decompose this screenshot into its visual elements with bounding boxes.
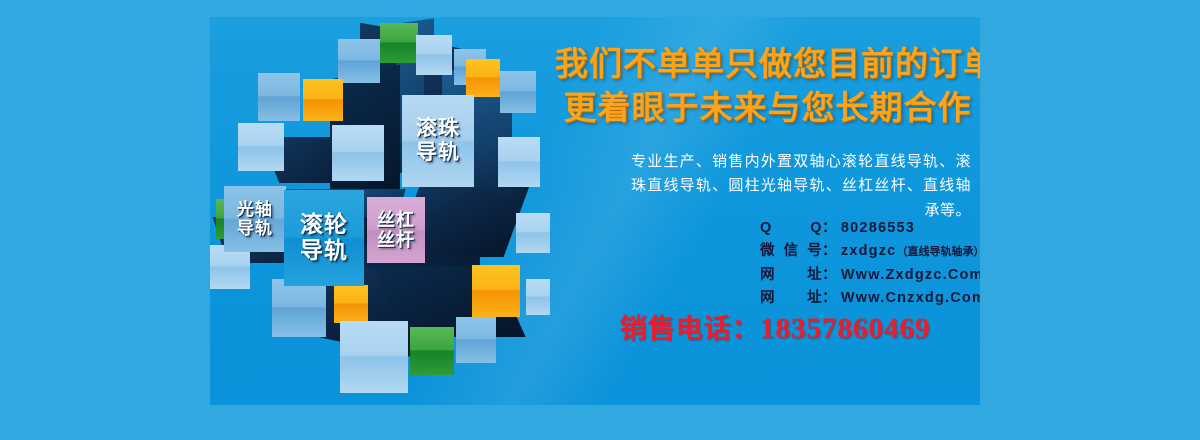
headline: 我们不单单只做您目前的订单 更着眼于未来与您长期合作 xyxy=(555,42,980,130)
cube-blue xyxy=(526,279,550,315)
contact-row-website-1: 网 址 ： Www.Zxdgzc.Com xyxy=(760,264,980,287)
cube-orange xyxy=(472,265,520,317)
contact-colon: ： xyxy=(822,217,837,240)
cube-face xyxy=(516,213,550,253)
cube-face xyxy=(416,35,452,75)
cube-face xyxy=(466,59,500,97)
contact-label: 微信号 xyxy=(760,240,822,263)
product-label-line1: 滚珠 xyxy=(416,117,460,141)
cube-face xyxy=(332,125,384,181)
cube-blue xyxy=(500,71,536,113)
cube-face xyxy=(338,39,380,83)
cube-blue xyxy=(416,35,452,75)
headline-line-2: 更着眼于未来与您长期合作 xyxy=(555,86,980,130)
product-label-line1: 光轴 xyxy=(237,200,273,219)
cube-face xyxy=(340,321,408,393)
cube-blue xyxy=(340,321,408,393)
cube-blue xyxy=(272,279,326,337)
product-label-gunlun-daogui: 滚轮 导轨 xyxy=(284,190,364,286)
contact-note-wechat: （直线导轨轴承） xyxy=(896,244,980,262)
contact-label: 网 址 xyxy=(760,264,822,287)
cube-face xyxy=(472,265,520,317)
cube-green xyxy=(380,23,418,63)
cube-face xyxy=(238,123,284,171)
sales-phone-number[interactable]: 18357860469 xyxy=(760,312,931,345)
cube-orange xyxy=(466,59,500,97)
product-label-sigang-sigan: 丝杠 丝杆 xyxy=(367,197,425,263)
contact-value-website-1[interactable]: Www.Zxdgzc.Com xyxy=(841,264,980,287)
description-text: 专业生产、销售内外置双轴心滚轮直线导轨、滚珠直线导轨、圆柱光轴导轨、丝杠丝杆、直… xyxy=(631,150,971,223)
product-label-line2: 导轨 xyxy=(300,238,348,264)
headline-line-1: 我们不单单只做您目前的订单 xyxy=(555,42,980,86)
contact-colon: ： xyxy=(822,264,837,287)
contact-colon: ： xyxy=(822,240,837,263)
copy-column: 我们不单单只做您目前的订单 更着眼于未来与您长期合作 专业生产、销售内外置双轴心… xyxy=(555,17,980,405)
cube-face xyxy=(498,137,540,187)
sales-phone-label: 销售电话： xyxy=(620,314,760,344)
cube-face xyxy=(410,327,454,375)
contact-value-qq[interactable]: 80286553 xyxy=(841,217,915,240)
contact-value-wechat[interactable]: zxdgzc xyxy=(841,240,897,263)
cube-face xyxy=(258,73,300,121)
cube-blue xyxy=(456,317,496,363)
cube-blue xyxy=(258,73,300,121)
cube-face xyxy=(456,317,496,363)
contact-row-qq: Q Q ： 80286553 xyxy=(760,217,980,240)
cube-face xyxy=(526,279,550,315)
cube-blue xyxy=(338,39,380,83)
cube-blue xyxy=(498,137,540,187)
contact-list: Q Q ： 80286553 微信号 ： zxdgzc （直线导轨轴承） 网 址… xyxy=(760,217,980,311)
contact-row-wechat: 微信号 ： zxdgzc （直线导轨轴承） xyxy=(760,240,980,263)
cube-face xyxy=(500,71,536,113)
cube-face xyxy=(272,279,326,337)
cube-blue xyxy=(238,123,284,171)
product-label-line1: 丝杠 xyxy=(377,210,415,230)
promo-banner: 滚珠 导轨 光轴 导轨 滚轮 导轨 丝杠 丝杆 我们不单单只做您目前的订单 更着… xyxy=(0,0,1200,440)
product-label-line2: 导轨 xyxy=(416,141,460,165)
cube-face xyxy=(380,23,418,63)
cube-orange xyxy=(334,285,368,323)
exploding-cubes-graphic: 滚珠 导轨 光轴 导轨 滚轮 导轨 丝杠 丝杆 xyxy=(210,17,550,405)
banner-panel: 滚珠 导轨 光轴 导轨 滚轮 导轨 丝杠 丝杆 我们不单单只做您目前的订单 更着… xyxy=(210,17,980,405)
cube-orange xyxy=(303,79,343,121)
product-label-gunzhu-daogui: 滚珠 导轨 xyxy=(402,95,474,187)
product-label-line2: 丝杆 xyxy=(377,230,415,250)
sales-phone: 销售电话：18357860469 xyxy=(570,307,980,346)
cube-face xyxy=(303,79,343,121)
product-label-line1: 滚轮 xyxy=(300,212,348,238)
cube-blue xyxy=(332,125,384,181)
product-label-line2: 导轨 xyxy=(237,219,273,238)
cube-blue xyxy=(516,213,550,253)
cube-green xyxy=(410,327,454,375)
cube-face xyxy=(334,285,368,323)
contact-label: Q Q xyxy=(760,217,822,240)
product-label-guangzhou-daogui: 光轴 导轨 xyxy=(224,186,286,252)
